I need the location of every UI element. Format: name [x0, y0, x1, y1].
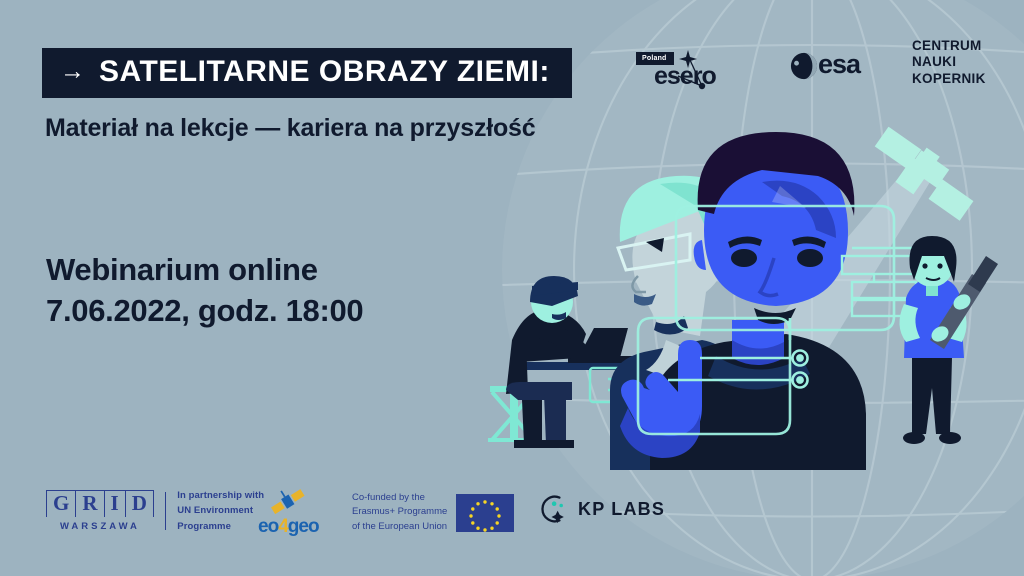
webinar-format: Webinarium online — [46, 250, 363, 291]
logo-kp-labs: KP LABS — [540, 494, 665, 524]
poster-canvas: → SATELITARNE OBRAZY ZIEMI: Materiał na … — [0, 0, 1024, 576]
grid-subtitle: WARSZAWA — [46, 521, 154, 532]
poster-title-bar: → SATELITARNE OBRAZY ZIEMI: — [42, 48, 572, 98]
partner-logos-bottom: G R I D WARSZAWA In partnership with UN … — [0, 484, 1024, 540]
eu-flag-icon — [456, 494, 514, 532]
eu-stars-icon — [456, 494, 514, 532]
cnk-line-3: KOPERNIK — [912, 71, 986, 87]
partner-line-2: UN Environment — [177, 503, 264, 518]
partner-line-1: In partnership with — [177, 488, 264, 503]
logo-grid-warszawa: G R I D WARSZAWA In partnership with UN … — [46, 488, 264, 534]
grid-letter-d: D — [126, 491, 153, 516]
grid-mark: G R I D WARSZAWA — [46, 490, 154, 531]
webinar-datetime: 7.06.2022, godz. 18:00 — [46, 291, 363, 332]
logo-divider — [165, 492, 166, 530]
eo4geo-prefix: eo — [258, 516, 278, 537]
partner-logos-top: Poland esero esa CENTRUM NAUKI KOPERNIK — [628, 34, 1008, 96]
cnk-line-1: CENTRUM — [912, 38, 986, 54]
page-title: SATELITARNE OBRAZY ZIEMI: — [99, 57, 550, 87]
grid-letter-g: G — [47, 491, 76, 516]
grid-letter-i: I — [105, 491, 126, 516]
webinar-info: Webinarium online 7.06.2022, godz. 18:00 — [46, 250, 363, 332]
kp-labs-mark-icon — [540, 494, 570, 524]
erasmus-text: Co-funded by the Erasmus+ Programme of t… — [352, 491, 447, 534]
logo-esa: esa — [790, 48, 890, 88]
grid-letters: G R I D — [46, 490, 154, 516]
grid-partner-text: In partnership with UN Environment Progr… — [177, 488, 264, 534]
erasmus-line-1: Co-funded by the — [352, 491, 447, 505]
arrow-right-icon: → — [60, 59, 85, 84]
kp-labs-wordmark: KP LABS — [578, 500, 665, 518]
eo4geo-satellite-icon — [262, 488, 314, 516]
eo4geo-suffix: geo — [288, 516, 319, 537]
logo-centrum-nauki-kopernik: CENTRUM NAUKI KOPERNIK — [912, 38, 986, 87]
eo4geo-wordmark: eo4geo — [258, 517, 319, 536]
partner-line-3: Programme — [177, 519, 264, 534]
esa-globe-icon — [790, 52, 818, 80]
esa-wordmark: esa — [818, 51, 860, 78]
erasmus-line-2: Erasmus+ Programme — [352, 505, 447, 519]
erasmus-line-3: of the European Union — [352, 520, 447, 534]
logo-esero-poland: Poland esero — [636, 46, 746, 92]
eo4geo-digit: 4 — [278, 516, 288, 537]
cnk-line-2: NAUKI — [912, 54, 986, 70]
grid-letter-r: R — [76, 491, 104, 516]
esero-wordmark: esero — [654, 64, 716, 89]
logo-eo4geo: eo4geo — [258, 488, 320, 536]
illustration-scene — [460, 90, 1024, 470]
page-subtitle: Materiał na lekcje — kariera na przyszło… — [45, 114, 535, 143]
person-with-telescope — [899, 236, 998, 444]
logo-erasmus-eu: Co-funded by the Erasmus+ Programme of t… — [352, 491, 514, 534]
